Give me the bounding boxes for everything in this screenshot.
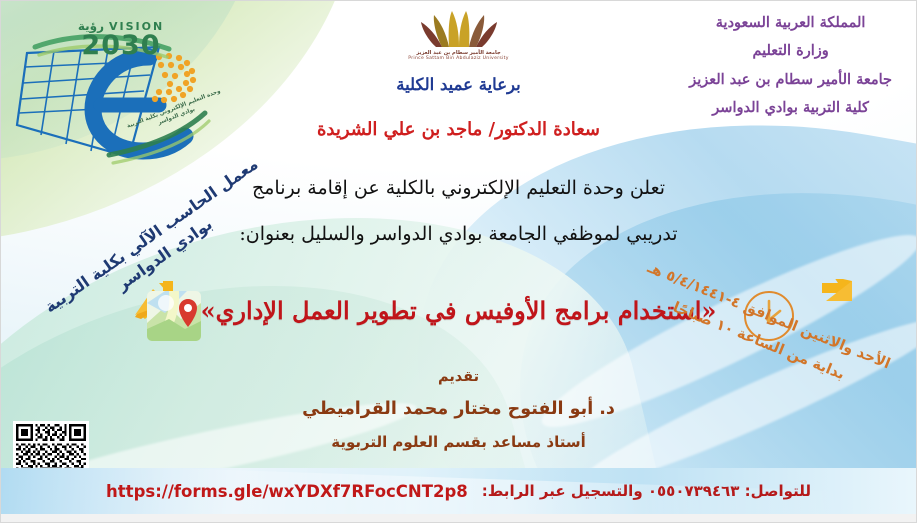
announcement-line-1: تعلن وحدة التعليم الإلكتروني بالكلية عن …	[1, 177, 916, 199]
speaker-name: د. أبو الفتوح مختار محمد القراميطي	[1, 399, 916, 419]
header-institution-block: المملكة العربية السعودية وزارة التعليم ج…	[689, 9, 892, 122]
university-logo: جامعة الأمير سطام بن عبد العزيز Prince S…	[379, 9, 539, 61]
header-line-college: كلية التربية بوادي الدواسر	[689, 94, 892, 122]
footer-bottom-strip	[1, 514, 916, 522]
vision-year: 2030	[81, 33, 160, 59]
header-line-kingdom: المملكة العربية السعودية	[689, 9, 892, 37]
vision-2030-logo: VISION رؤية 2030	[61, 19, 181, 59]
footer-banner: للتواصل: ٠٥٥٠٧٣٩٤٦٣ والتسجيل عبر الرابط:…	[1, 468, 916, 514]
patronage-text: برعاية عميد الكلية	[1, 75, 916, 94]
poster-canvas: VISION رؤية 2030 وحدة التعليم الإلكتروني…	[0, 0, 917, 523]
arrow-pointing-down-left-icon-right	[808, 279, 854, 319]
footer-content: للتواصل: ٠٥٥٠٧٣٩٤٦٣ والتسجيل عبر الرابط:…	[1, 468, 916, 514]
presented-by-label: تقديم	[1, 369, 916, 385]
university-logo-english-caption: Prince Sattam Bin Abdulaziz University	[379, 56, 539, 61]
dean-name: سعادة الدكتور/ ماجد بن علي الشريدة	[1, 119, 916, 140]
registration-link[interactable]: https://forms.gle/wxYDXf7RFocCNT2p8	[106, 482, 468, 501]
map-location-icon	[145, 289, 203, 343]
footer-contact-text: للتواصل: ٠٥٥٠٧٣٩٤٦٣ والتسجيل عبر الرابط:	[482, 482, 811, 500]
header-line-ministry: وزارة التعليم	[689, 37, 892, 65]
university-book-icon	[416, 9, 502, 49]
speaker-role: أستاذ مساعد بقسم العلوم التربوية	[1, 433, 916, 451]
